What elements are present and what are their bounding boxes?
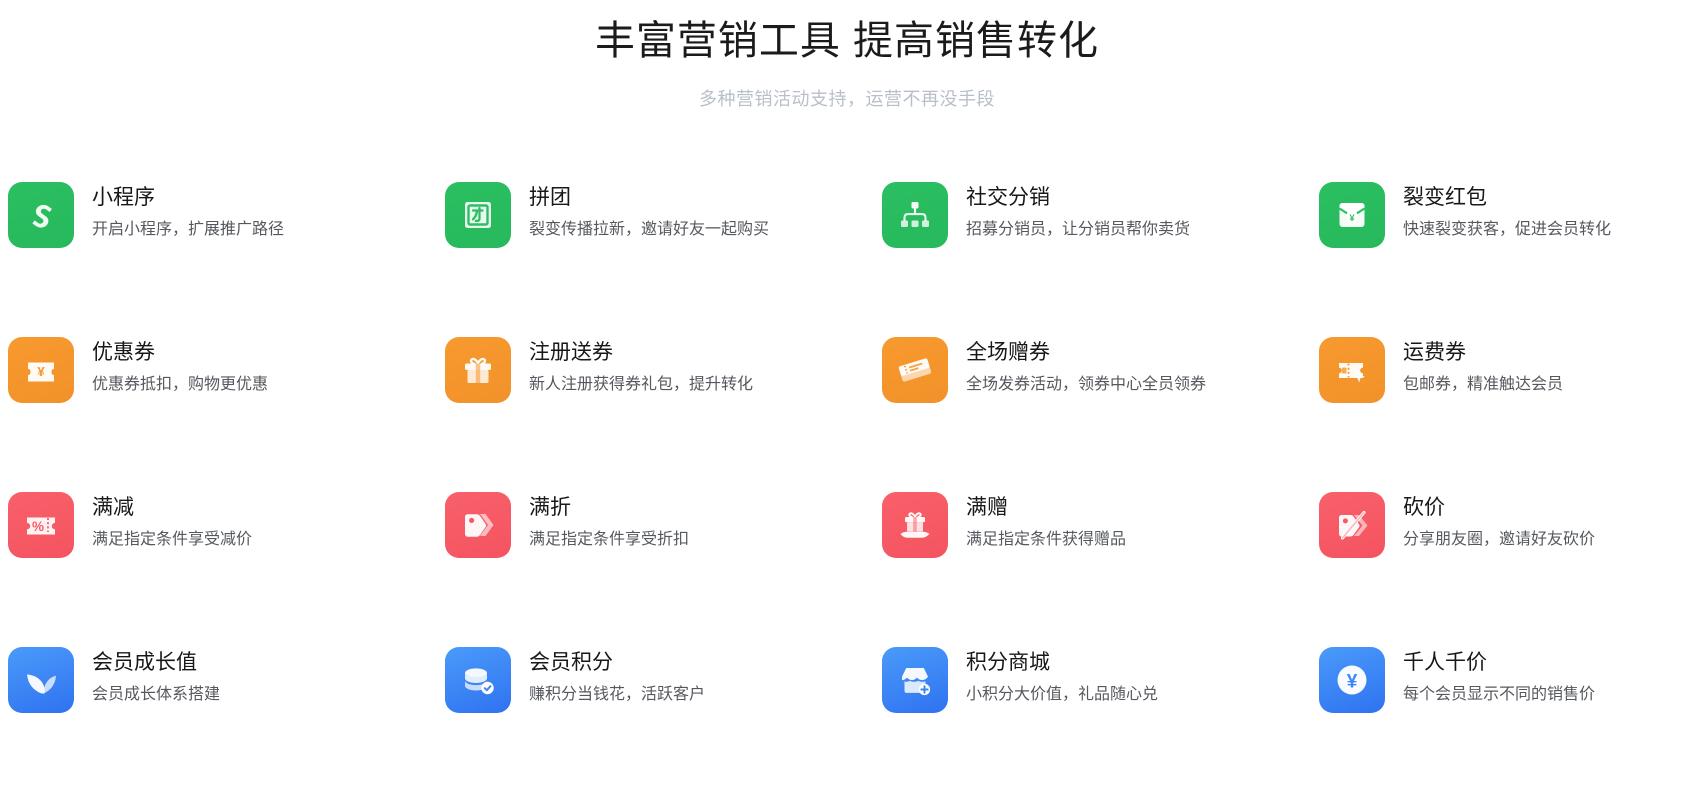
feature-card[interactable]: 砍价分享朋友圈，邀请好友砍价 xyxy=(1319,492,1694,647)
feature-description: 满足指定条件获得赠品 xyxy=(966,523,1126,553)
feature-text: 注册送券新人注册获得券礼包，提升转化 xyxy=(529,337,753,398)
feature-text: 裂变红包快速裂变获客，促进会员转化 xyxy=(1403,182,1611,243)
feature-title: 会员积分 xyxy=(529,648,705,678)
coin-stack-icon xyxy=(445,647,511,713)
feature-text: 会员积分赚积分当钱花，活跃客户 xyxy=(529,647,705,708)
feature-text: 小程序开启小程序，扩展推广路径 xyxy=(92,182,284,243)
svg-text:¥: ¥ xyxy=(37,364,45,379)
feature-description: 分享朋友圈，邀请好友砍价 xyxy=(1403,523,1595,553)
page-title: 丰富营销工具 提高销售转化 xyxy=(0,8,1694,68)
feature-text: 全场赠券全场发券活动，领券中心全员领券 xyxy=(966,337,1206,398)
feature-card[interactable]: 运费券包邮券，精准触达会员 xyxy=(1319,337,1694,492)
feature-title: 砍价 xyxy=(1403,493,1595,523)
feature-description: 裂变传播拉新，邀请好友一起购买 xyxy=(529,213,769,243)
page-header: 丰富营销工具 提高销售转化 多种营销活动支持，运营不再没手段 xyxy=(0,0,1694,112)
feature-card[interactable]: 满赠满足指定条件获得赠品 xyxy=(882,492,1319,647)
percent-ticket-icon: % xyxy=(8,492,74,558)
feature-card[interactable]: ¥ 优惠券优惠券抵扣，购物更优惠 xyxy=(8,337,445,492)
feature-description: 满足指定条件享受减价 xyxy=(92,523,252,553)
feature-card[interactable]: ¥ 裂变红包快速裂变获客，促进会员转化 xyxy=(1319,182,1694,337)
features-grid: 小程序开启小程序，扩展推广路径 拼团裂变传播拉新，邀请好友一起购买 社交分销招募… xyxy=(0,182,1694,802)
feature-description: 开启小程序，扩展推广路径 xyxy=(92,213,284,243)
feature-title: 运费券 xyxy=(1403,338,1563,368)
feature-title: 拼团 xyxy=(529,183,769,213)
feature-title: 全场赠券 xyxy=(966,338,1206,368)
feature-card[interactable]: 会员成长值会员成长体系搭建 xyxy=(8,647,445,802)
feature-description: 包邮券，精准触达会员 xyxy=(1403,368,1563,398)
feature-card[interactable]: 拼团裂变传播拉新，邀请好友一起购买 xyxy=(445,182,882,337)
feature-text: 优惠券优惠券抵扣，购物更优惠 xyxy=(92,337,268,398)
coupon-icon: ¥ xyxy=(8,337,74,403)
feature-card[interactable]: 满折满足指定条件享受折扣 xyxy=(445,492,882,647)
gift-on-hand-icon xyxy=(882,492,948,558)
feature-title: 优惠券 xyxy=(92,338,268,368)
feature-title: 满赠 xyxy=(966,493,1126,523)
feature-text: 千人千价每个会员显示不同的销售价 xyxy=(1403,647,1595,708)
feature-title: 裂变红包 xyxy=(1403,183,1611,213)
price-tag-icon xyxy=(445,492,511,558)
feature-card[interactable]: 小程序开启小程序，扩展推广路径 xyxy=(8,182,445,337)
feature-title: 千人千价 xyxy=(1403,648,1595,678)
feature-title: 小程序 xyxy=(92,183,284,213)
feature-description: 赚积分当钱花，活跃客户 xyxy=(529,678,705,708)
feature-description: 每个会员显示不同的销售价 xyxy=(1403,678,1595,708)
feature-card[interactable]: 积分商城小积分大价值，礼品随心兑 xyxy=(882,647,1319,802)
red-packet-icon: ¥ xyxy=(1319,182,1385,248)
bargain-tag-icon xyxy=(1319,492,1385,558)
mini-program-icon xyxy=(8,182,74,248)
feature-card[interactable]: % 满减满足指定条件享受减价 xyxy=(8,492,445,647)
feature-text: 会员成长值会员成长体系搭建 xyxy=(92,647,220,708)
marketing-tools-page: 丰富营销工具 提高销售转化 多种营销活动支持，运营不再没手段 小程序开启小程序，… xyxy=(0,0,1694,780)
distribution-network-icon xyxy=(882,182,948,248)
feature-text: 社交分销招募分销员，让分销员帮你卖货 xyxy=(966,182,1190,243)
svg-text:¥: ¥ xyxy=(1347,672,1358,693)
feature-title: 注册送券 xyxy=(529,338,753,368)
feature-title: 积分商城 xyxy=(966,648,1158,678)
feature-description: 满足指定条件享受折扣 xyxy=(529,523,689,553)
feature-card[interactable]: 社交分销招募分销员，让分销员帮你卖货 xyxy=(882,182,1319,337)
feature-card[interactable]: ¥ 千人千价每个会员显示不同的销售价 xyxy=(1319,647,1694,802)
feature-title: 社交分销 xyxy=(966,183,1190,213)
feature-text: 满折满足指定条件享受折扣 xyxy=(529,492,689,553)
feature-description: 全场发券活动，领券中心全员领券 xyxy=(966,368,1206,398)
group-buy-icon xyxy=(445,182,511,248)
feature-description: 新人注册获得券礼包，提升转化 xyxy=(529,368,753,398)
feature-text: 拼团裂变传播拉新，邀请好友一起购买 xyxy=(529,182,769,243)
feature-text: 运费券包邮券，精准触达会员 xyxy=(1403,337,1563,398)
gift-box-icon xyxy=(445,337,511,403)
feature-card[interactable]: 会员积分赚积分当钱花，活跃客户 xyxy=(445,647,882,802)
feature-card[interactable]: 注册送券新人注册获得券礼包，提升转化 xyxy=(445,337,882,492)
feature-description: 小积分大价值，礼品随心兑 xyxy=(966,678,1158,708)
feature-text: 满减满足指定条件享受减价 xyxy=(92,492,252,553)
feature-text: 满赠满足指定条件获得赠品 xyxy=(966,492,1126,553)
feature-text: 积分商城小积分大价值，礼品随心兑 xyxy=(966,647,1158,708)
feature-title: 满减 xyxy=(92,493,252,523)
sprout-leaf-icon xyxy=(8,647,74,713)
feature-description: 快速裂变获客，促进会员转化 xyxy=(1403,213,1611,243)
feature-description: 优惠券抵扣，购物更优惠 xyxy=(92,368,268,398)
feature-text: 砍价分享朋友圈，邀请好友砍价 xyxy=(1403,492,1595,553)
shipping-ticket-icon xyxy=(1319,337,1385,403)
yuan-circle-icon: ¥ xyxy=(1319,647,1385,713)
points-shop-icon xyxy=(882,647,948,713)
feature-description: 招募分销员，让分销员帮你卖货 xyxy=(966,213,1190,243)
feature-description: 会员成长体系搭建 xyxy=(92,678,220,708)
svg-text:%: % xyxy=(32,519,44,534)
ticket-stack-icon xyxy=(882,337,948,403)
feature-title: 满折 xyxy=(529,493,689,523)
feature-card[interactable]: 全场赠券全场发券活动，领券中心全员领券 xyxy=(882,337,1319,492)
feature-title: 会员成长值 xyxy=(92,648,220,678)
svg-text:¥: ¥ xyxy=(1349,213,1355,224)
page-subtitle: 多种营销活动支持，运营不再没手段 xyxy=(0,68,1694,112)
